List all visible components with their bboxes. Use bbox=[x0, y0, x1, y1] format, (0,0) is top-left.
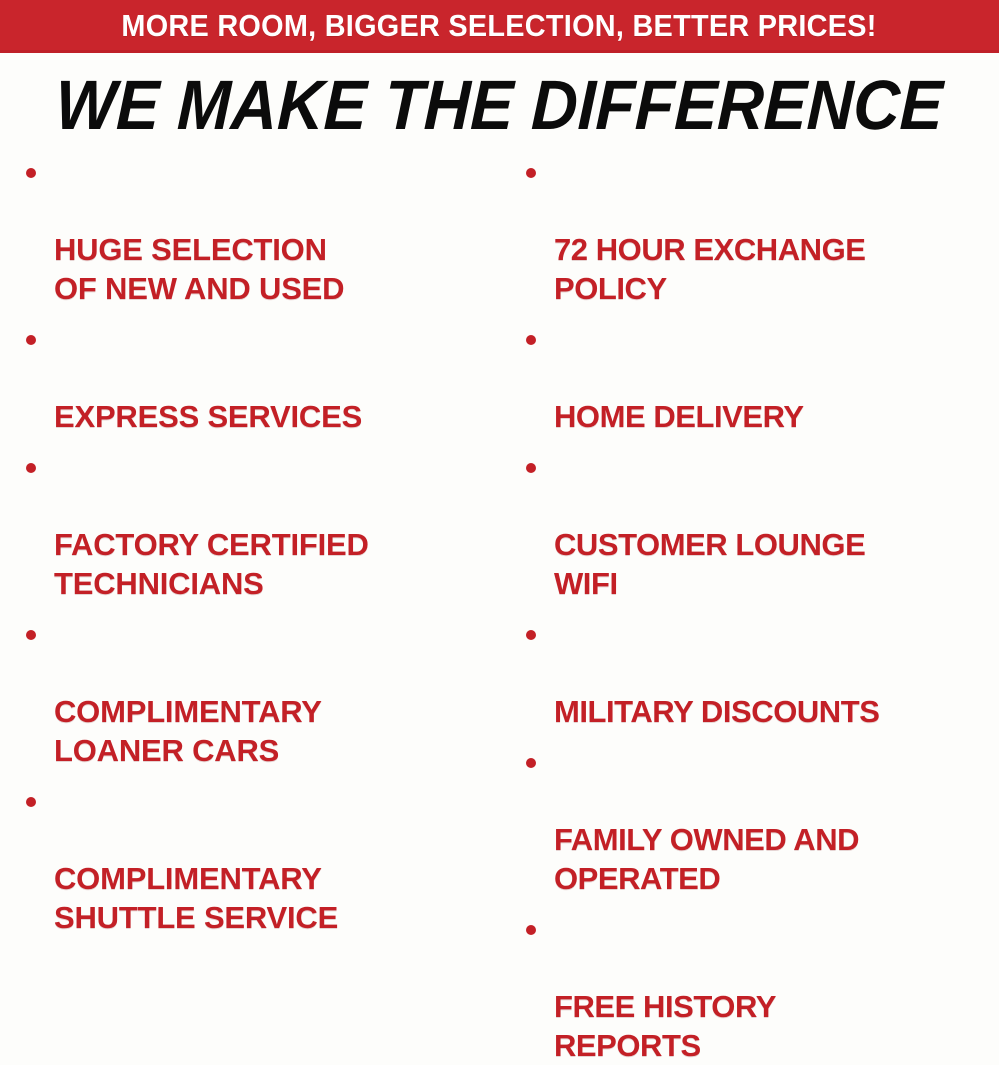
list-item-label: COMPLIMENTARY SHUTTLE SERVICE bbox=[54, 861, 338, 935]
bullet-dot-icon bbox=[526, 168, 536, 178]
bullet-dot-icon bbox=[26, 335, 36, 345]
bullet-dot-icon bbox=[26, 168, 36, 178]
list-item: EXPRESS SERVICES bbox=[14, 319, 500, 436]
list-item: FAMILY OWNED AND OPERATED bbox=[514, 742, 999, 898]
list-item-label: CUSTOMER LOUNGE WIFI bbox=[554, 527, 865, 601]
headline-container: WE MAKE THE DIFFERENCE bbox=[0, 66, 999, 144]
top-banner-text: MORE ROOM, BIGGER SELECTION, BETTER PRIC… bbox=[122, 10, 877, 41]
list-item-label: EXPRESS SERVICES bbox=[54, 399, 362, 434]
benefits-column-right: 72 HOUR EXCHANGE POLICY HOME DELIVERY CU… bbox=[500, 152, 999, 692]
top-banner: MORE ROOM, BIGGER SELECTION, BETTER PRIC… bbox=[0, 0, 999, 53]
list-item-label: MILITARY DISCOUNTS bbox=[554, 694, 879, 729]
bullet-dot-icon bbox=[526, 758, 536, 768]
bullet-dot-icon bbox=[26, 630, 36, 640]
bullet-dot-icon bbox=[526, 925, 536, 935]
list-item: FACTORY CERTIFIED TECHNICIANS bbox=[14, 447, 500, 603]
list-item-label: FACTORY CERTIFIED TECHNICIANS bbox=[54, 527, 369, 601]
bullet-dot-icon bbox=[526, 463, 536, 473]
list-item-label: HOME DELIVERY bbox=[554, 399, 804, 434]
benefits-column-left: HUGE SELECTION OF NEW AND USED EXPRESS S… bbox=[0, 152, 500, 692]
list-item: COMPLIMENTARY SHUTTLE SERVICE bbox=[14, 781, 500, 937]
bullet-dot-icon bbox=[26, 797, 36, 807]
bullet-dot-icon bbox=[526, 335, 536, 345]
benefits-list-right: 72 HOUR EXCHANGE POLICY HOME DELIVERY CU… bbox=[514, 152, 999, 1065]
list-item: CUSTOMER LOUNGE WIFI bbox=[514, 447, 999, 603]
list-item: MILITARY DISCOUNTS bbox=[514, 614, 999, 731]
list-item-label: COMPLIMENTARY LOANER CARS bbox=[54, 694, 322, 768]
list-item: HUGE SELECTION OF NEW AND USED bbox=[14, 152, 500, 308]
list-item: COMPLIMENTARY LOANER CARS bbox=[14, 614, 500, 770]
list-item: 72 HOUR EXCHANGE POLICY bbox=[514, 152, 999, 308]
bullet-dot-icon bbox=[526, 630, 536, 640]
list-item-label: FAMILY OWNED AND OPERATED bbox=[554, 822, 859, 896]
list-item: FREE HISTORY REPORTS bbox=[514, 909, 999, 1065]
list-item-label: HUGE SELECTION OF NEW AND USED bbox=[54, 232, 344, 306]
benefits-columns: HUGE SELECTION OF NEW AND USED EXPRESS S… bbox=[0, 152, 999, 692]
page-title: WE MAKE THE DIFFERENCE bbox=[55, 70, 945, 140]
list-item: HOME DELIVERY bbox=[514, 319, 999, 436]
list-item-label: FREE HISTORY REPORTS bbox=[554, 989, 776, 1063]
list-item-label: 72 HOUR EXCHANGE POLICY bbox=[554, 232, 865, 306]
promo-poster: MORE ROOM, BIGGER SELECTION, BETTER PRIC… bbox=[0, 0, 999, 692]
benefits-list-left: HUGE SELECTION OF NEW AND USED EXPRESS S… bbox=[14, 152, 500, 937]
bullet-dot-icon bbox=[26, 463, 36, 473]
